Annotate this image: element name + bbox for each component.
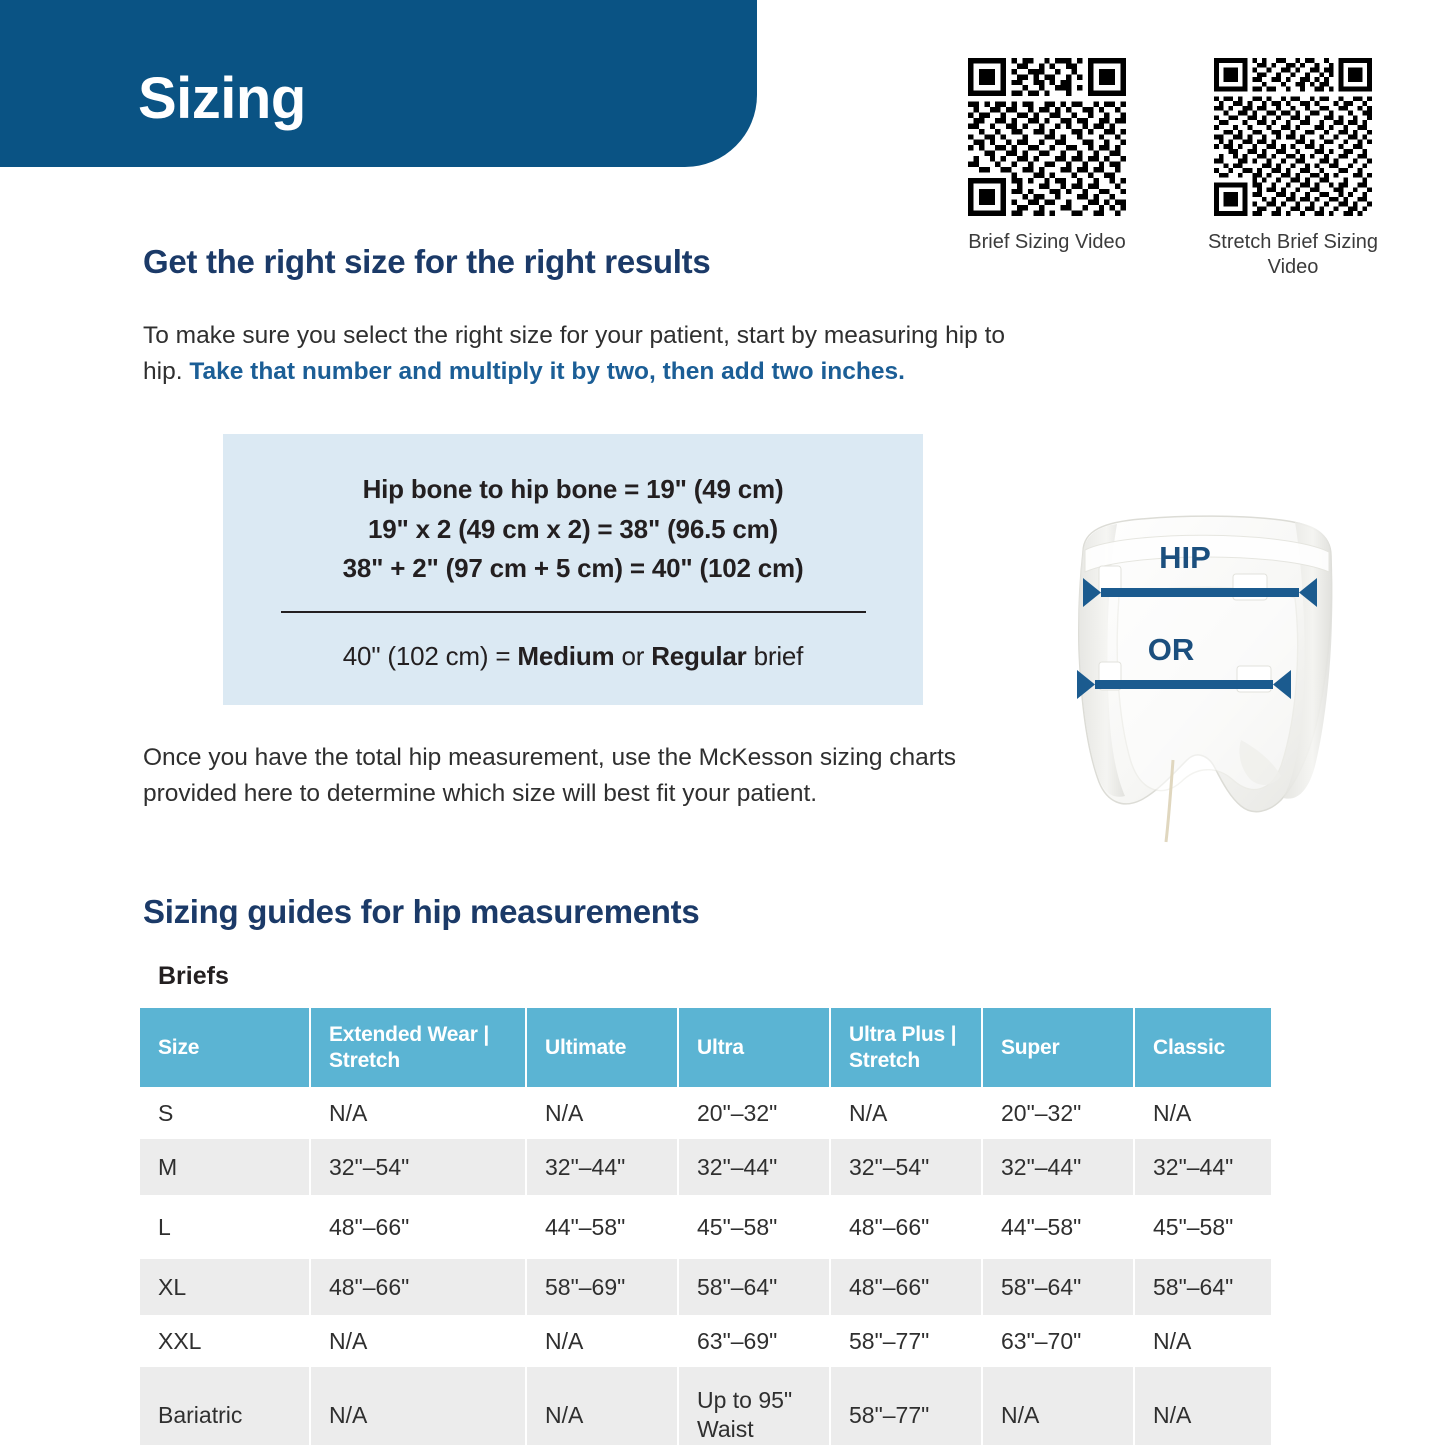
table-cell: 45"–58": [1134, 1195, 1271, 1259]
table-cell: 48"–66": [830, 1259, 982, 1315]
table-cell: 44"–58": [526, 1195, 678, 1259]
table-cell: N/A: [310, 1315, 526, 1367]
calc-line-2: 19" x 2 (49 cm x 2) = 38" (96.5 cm): [223, 510, 923, 550]
table-cell: 58"–64": [1134, 1259, 1271, 1315]
qr-code-icon[interactable]: [968, 58, 1126, 216]
table-header-classic: Classic: [1134, 1008, 1271, 1087]
table-row: XL 48"–66" 58"–69" 58"–64" 48"–66" 58"–6…: [140, 1259, 1271, 1315]
calc-result-line: 40" (102 cm) = Medium or Regular brief: [223, 641, 923, 672]
calc-divider: [281, 611, 866, 613]
qr-block-brief-sizing-video[interactable]: Brief Sizing Video: [963, 58, 1131, 255]
table-cell: N/A: [1134, 1087, 1271, 1139]
table-cell: 58"–64": [678, 1259, 830, 1315]
calc-result-fit: Regular: [651, 641, 746, 671]
table-header-super: Super: [982, 1008, 1134, 1087]
table-cell: N/A: [310, 1367, 526, 1445]
table-cell: 32"–44": [982, 1139, 1134, 1195]
qr-caption: Stretch Brief Sizing Video: [1198, 230, 1388, 280]
table-cell: 63"–69": [678, 1315, 830, 1367]
table-cell: 48"–66": [310, 1259, 526, 1315]
section-heading-right-size: Get the right size for the right results: [143, 243, 710, 281]
table-row: S N/A N/A 20"–32" N/A 20"–32" N/A: [140, 1087, 1271, 1139]
table-cell: 32"–44": [678, 1139, 830, 1195]
table-header-size: Size: [140, 1008, 310, 1087]
calc-result-suffix: brief: [747, 641, 804, 671]
table-cell: 58"–64": [982, 1259, 1134, 1315]
table-cell: N/A: [830, 1087, 982, 1139]
table-row: Bariatric N/A N/A Up to 95" Waist 58"–77…: [140, 1367, 1271, 1445]
calc-line-1: Hip bone to hip bone = 19" (49 cm): [223, 470, 923, 510]
table-cell: N/A: [310, 1087, 526, 1139]
table-cell-size: Bariatric: [140, 1367, 310, 1445]
table-cell: N/A: [526, 1367, 678, 1445]
table-cell-size: L: [140, 1195, 310, 1259]
table-cell: Up to 95" Waist: [678, 1367, 830, 1445]
table-cell-size: S: [140, 1087, 310, 1139]
table-cell: 48"–66": [310, 1195, 526, 1259]
qr-block-stretch-brief-sizing-video[interactable]: Stretch Brief Sizing Video: [1209, 58, 1377, 280]
calc-result-prefix: 40" (102 cm) =: [343, 641, 518, 671]
table-cell-size: XL: [140, 1259, 310, 1315]
table-cell: 20"–32": [982, 1087, 1134, 1139]
qr-caption: Brief Sizing Video: [947, 230, 1147, 255]
brief-product-illustration: HIP OR: [1045, 500, 1365, 860]
brief-diagram-icon: HIP OR: [1045, 500, 1365, 860]
calculation-example-box: Hip bone to hip bone = 19" (49 cm) 19" x…: [223, 434, 923, 705]
table-row: XXL N/A N/A 63"–69" 58"–77" 63"–70" N/A: [140, 1315, 1271, 1367]
table-cell: N/A: [1134, 1367, 1271, 1445]
table-row: L 48"–66" 44"–58" 45"–58" 48"–66" 44"–58…: [140, 1195, 1271, 1259]
section-heading-sizing-guides: Sizing guides for hip measurements: [143, 893, 699, 931]
table-cell: 63"–70": [982, 1315, 1134, 1367]
calc-result-conjunction: or: [614, 641, 651, 671]
table-header-extended-wear: Extended Wear | Stretch: [310, 1008, 526, 1087]
table-head: Size Extended Wear | Stretch Ultimate Ul…: [140, 1008, 1271, 1087]
table-cell: 58"–77": [830, 1367, 982, 1445]
table-cell: 45"–58": [678, 1195, 830, 1259]
table-row: M 32"–54" 32"–44" 32"–44" 32"–54" 32"–44…: [140, 1139, 1271, 1195]
sizing-page: Sizing: [0, 0, 1445, 1445]
intro-paragraph: To make sure you select the right size f…: [143, 318, 1043, 391]
table-cell: 32"–54": [310, 1139, 526, 1195]
table-cell: 32"–44": [526, 1139, 678, 1195]
table-body: S N/A N/A 20"–32" N/A 20"–32" N/A M 32"–…: [140, 1087, 1271, 1445]
table-cell: 48"–66": [830, 1195, 982, 1259]
table-cell: N/A: [982, 1367, 1134, 1445]
table-cell: N/A: [526, 1315, 678, 1367]
table-cell: N/A: [526, 1087, 678, 1139]
table-cell: 20"–32": [678, 1087, 830, 1139]
table-header-ultra-plus: Ultra Plus | Stretch: [830, 1008, 982, 1087]
page-title: Sizing: [138, 70, 306, 128]
qr-code-icon[interactable]: [1214, 58, 1372, 216]
table-cell-size: M: [140, 1139, 310, 1195]
table-cell: N/A: [1134, 1315, 1271, 1367]
table-cell: 32"–44": [1134, 1139, 1271, 1195]
briefs-sizing-table: Size Extended Wear | Stretch Ultimate Ul…: [140, 1008, 1271, 1445]
post-paragraph: Once you have the total hip measurement,…: [143, 740, 1003, 813]
table-cell: 58"–69": [526, 1259, 678, 1315]
calc-result-size: Medium: [517, 641, 614, 671]
table-cell: 32"–54": [830, 1139, 982, 1195]
table-cell-size: XXL: [140, 1315, 310, 1367]
table-header-row: Size Extended Wear | Stretch Ultimate Ul…: [140, 1008, 1271, 1087]
table-header-ultimate: Ultimate: [526, 1008, 678, 1087]
page-header-banner: Sizing: [0, 0, 757, 167]
table-label-briefs: Briefs: [158, 962, 229, 991]
table-cell: 44"–58": [982, 1195, 1134, 1259]
intro-accent-text: Take that number and multiply it by two,…: [189, 358, 905, 385]
or-label-text: OR: [1148, 632, 1195, 667]
table-header-ultra: Ultra: [678, 1008, 830, 1087]
calc-line-3: 38" + 2" (97 cm + 5 cm) = 40" (102 cm): [223, 549, 923, 589]
table-cell: 58"–77": [830, 1315, 982, 1367]
hip-label-text: HIP: [1159, 540, 1211, 575]
